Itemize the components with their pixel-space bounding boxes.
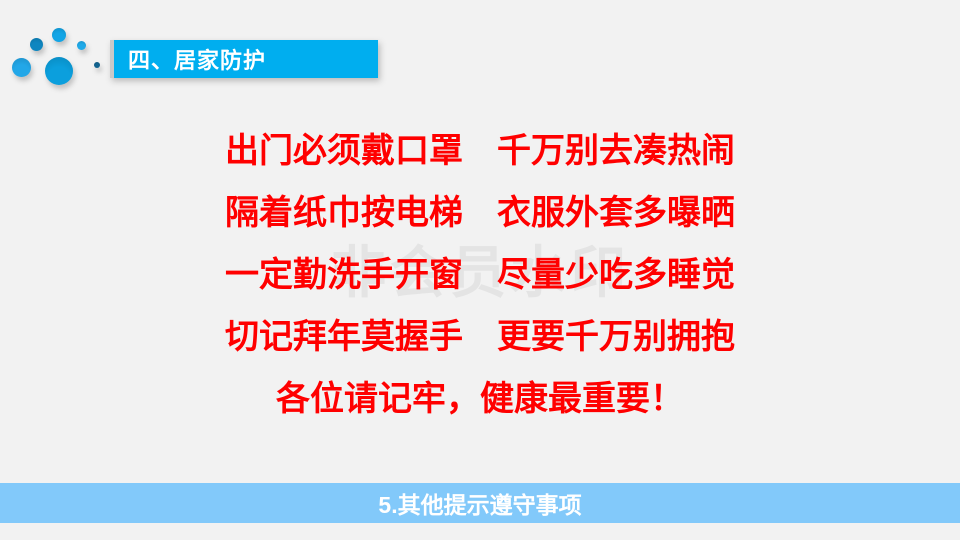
deco-dot-micro-dark — [94, 62, 100, 68]
deco-dot-small-teal — [30, 38, 43, 51]
deco-dot-small-bright — [52, 28, 66, 42]
verse-block: 出门必须戴口罩 千万别去凑热闹 隔着纸巾按电梯 衣服外套多曝晒 一定勤洗手开窗 … — [0, 120, 960, 430]
deco-dot-medium-left — [12, 58, 31, 77]
verse-line: 隔着纸巾按电梯 衣服外套多曝晒 — [0, 182, 960, 244]
footer-bar: 5.其他提示遵守事项 — [0, 483, 960, 523]
footer-bar-text: 5.其他提示遵守事项 — [378, 486, 581, 520]
verse-line: 切记拜年莫握手 更要千万别拥抱 — [0, 306, 960, 368]
section-title-text: 四、居家防护 — [114, 43, 266, 75]
deco-dot-tiny-right — [77, 41, 86, 50]
deco-dot-large-center — [45, 57, 73, 85]
verse-line: 出门必须戴口罩 千万别去凑热闹 — [0, 120, 960, 182]
slide-canvas: 四、居家防护 非会员水印 出门必须戴口罩 千万别去凑热闹 隔着纸巾按电梯 衣服外… — [0, 0, 960, 540]
verse-line: 各位请记牢，健康最重要！ — [0, 368, 960, 430]
verse-line: 一定勤洗手开窗 尽量少吃多睡觉 — [0, 244, 960, 306]
section-title-box: 四、居家防护 — [110, 40, 378, 78]
